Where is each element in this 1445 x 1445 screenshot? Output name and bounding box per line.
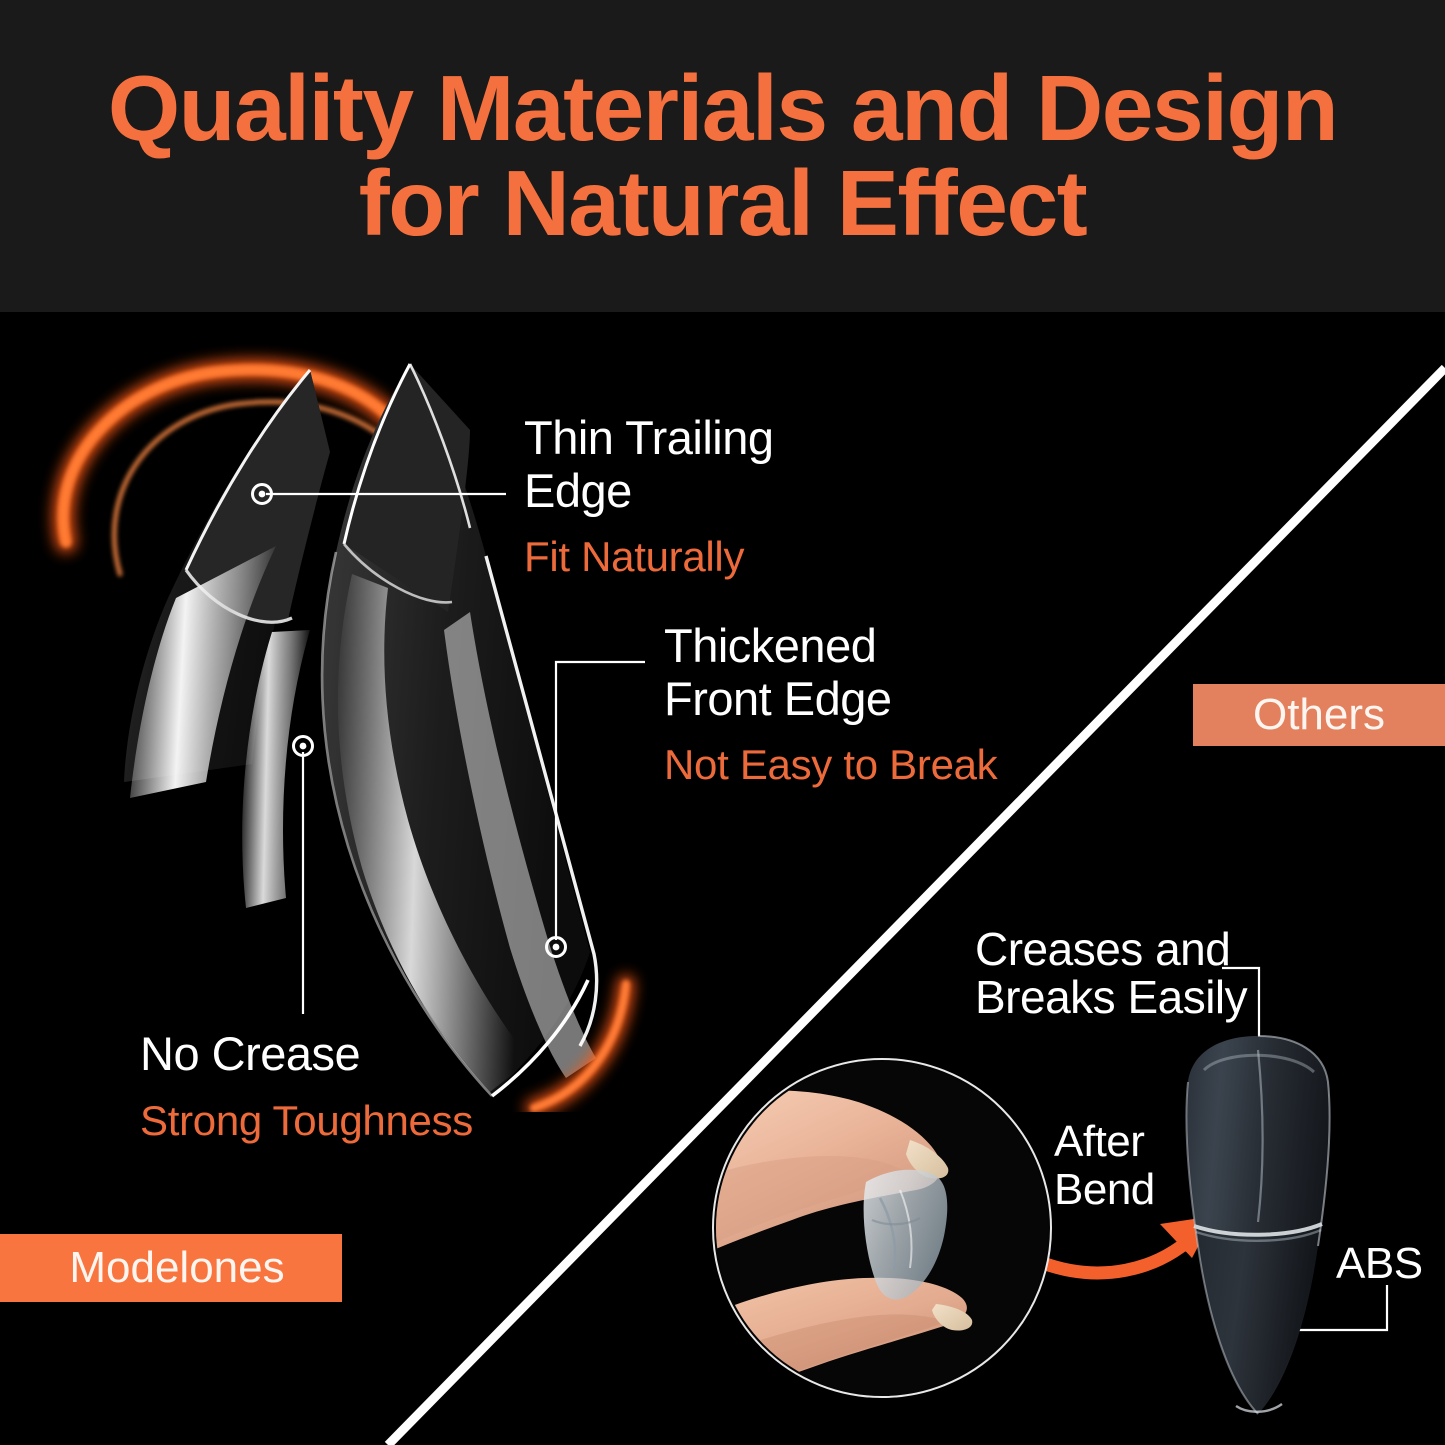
label-creases-breaks-line1: Creases and (975, 924, 1230, 975)
callout-subline: Not Easy to Break (664, 741, 997, 789)
callout-headline-line1: Thin Trailing (524, 412, 774, 465)
callout-headline-line1: Thickened (664, 620, 997, 673)
label-after-bend-line2: Bend (1054, 1166, 1155, 1214)
competitor-badge-others: Others (1193, 684, 1445, 746)
page-title-line-2: for Natural Effect (359, 156, 1086, 251)
label-creases-breaks-line2: Breaks Easily (975, 972, 1247, 1023)
callout-subline: Strong Toughness (140, 1097, 473, 1145)
label-abs-material: ABS (1336, 1240, 1423, 1288)
brand-badge-modelones: Modelones (0, 1234, 342, 1302)
infographic-canvas: Quality Materials and Design for Natural… (0, 0, 1445, 1445)
label-after-bend-line1: After (1054, 1118, 1144, 1166)
callout-headline-line1: No Crease (140, 1028, 473, 1081)
callout-headline-line2: Front Edge (664, 673, 997, 726)
callout-thickened-front-edge: Thickened Front Edge Not Easy to Break (664, 620, 997, 790)
callout-headline-line2: Edge (524, 465, 774, 518)
nail-tip-back (124, 370, 330, 798)
photo-abs-nail-tip (1178, 1030, 1338, 1420)
callout-no-crease: No Crease Strong Toughness (140, 1028, 473, 1145)
header-banner: Quality Materials and Design for Natural… (0, 0, 1445, 312)
page-title-line-1: Quality Materials and Design (108, 61, 1337, 156)
callout-thin-trailing-edge: Thin Trailing Edge Fit Naturally (524, 412, 774, 582)
callout-subline: Fit Naturally (524, 533, 774, 581)
photo-pinch-nail-tip (712, 1058, 1052, 1398)
pinch-photo-art (714, 1060, 1050, 1396)
